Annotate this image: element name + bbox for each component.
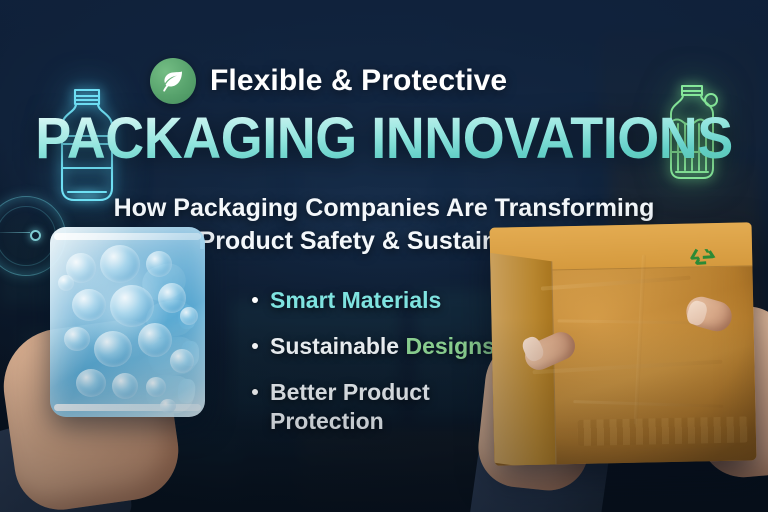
bullet-dot-icon [252, 297, 258, 303]
kraft-bubble-mailer-with-hands [480, 215, 768, 512]
feature-list: Smart Materials Sustainable Designs Bett… [252, 286, 502, 453]
list-item: Sustainable Designs [252, 332, 502, 361]
list-item-label: Smart Materials [270, 286, 441, 315]
bullet-dot-icon [252, 389, 258, 395]
list-item: Better Product Protection [252, 378, 502, 436]
promo-banner: Flexible & Protective PACKAGING INNOVATI… [0, 0, 768, 512]
eyebrow-text: Flexible & Protective [210, 64, 507, 98]
list-item-text: Smart Materials [270, 287, 441, 313]
page-title: PACKAGING INNOVATIONS [27, 110, 741, 168]
list-item-label: Better Product Protection [270, 378, 502, 436]
liquid-pouch [50, 227, 205, 417]
liquid-bubble-pouch-with-hand [0, 205, 250, 512]
list-item-text: Sustainable [270, 333, 405, 359]
bullet-dot-icon [252, 343, 258, 349]
eyebrow-row: Flexible & Protective [150, 58, 507, 104]
list-item: Smart Materials [252, 286, 502, 315]
leaf-icon [150, 58, 196, 104]
list-item-label: Sustainable Designs [270, 332, 495, 361]
recycle-icon [688, 239, 719, 268]
